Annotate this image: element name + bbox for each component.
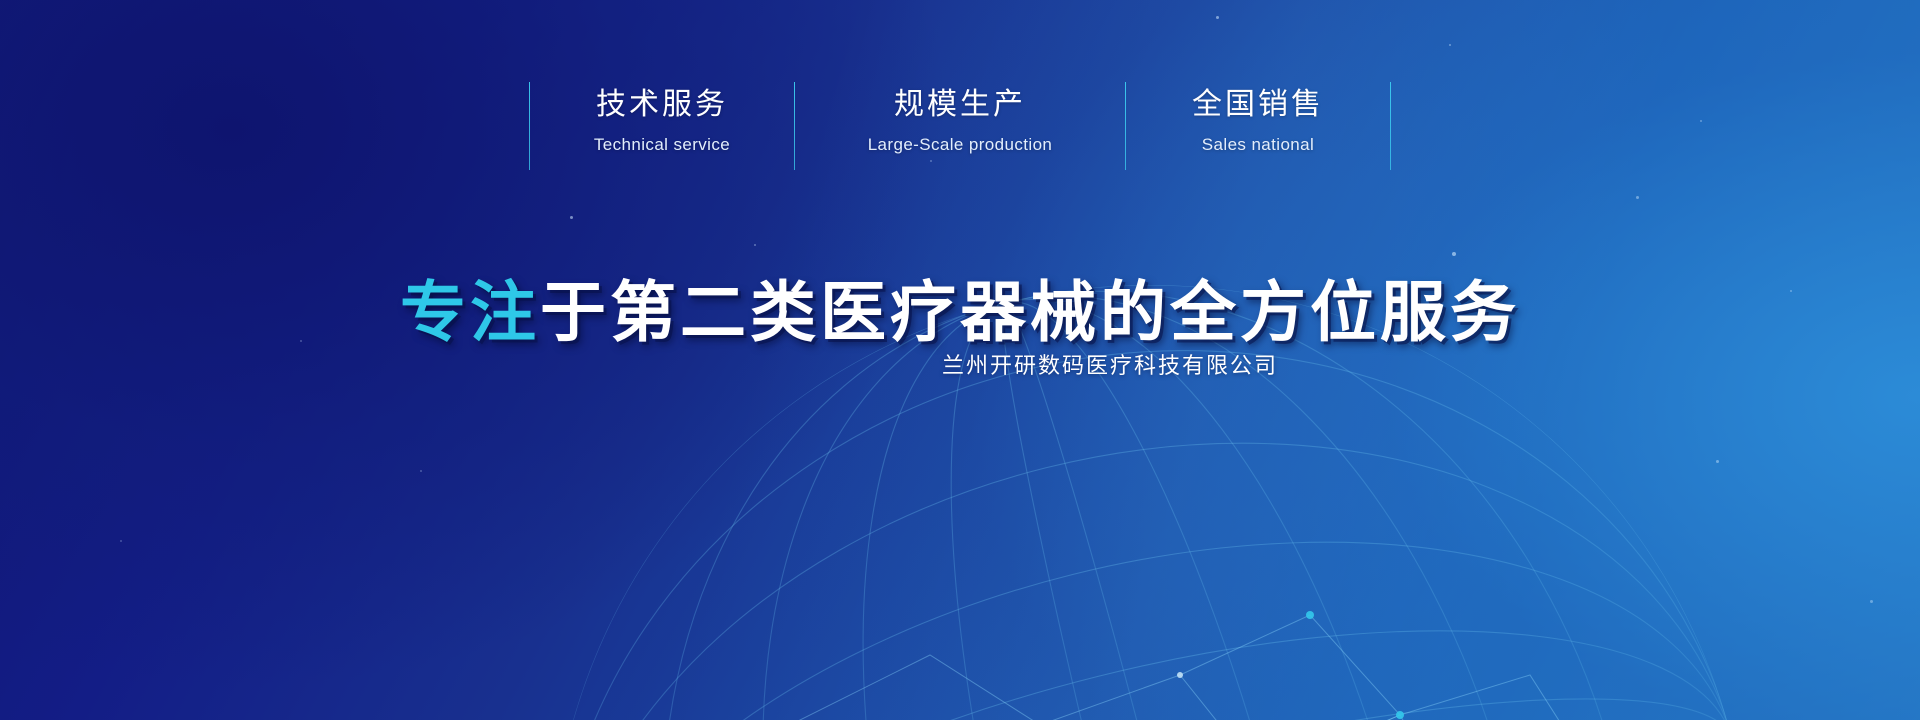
feature-item-technical-service[interactable]: 技术服务 Technical service xyxy=(530,72,794,172)
feature-item-sales-national[interactable]: 全国销售 Sales national xyxy=(1126,72,1390,172)
feature-title-cn: 技术服务 xyxy=(540,90,784,120)
feature-title-cn: 规模生产 xyxy=(805,90,1115,120)
feature-title-en: Sales national xyxy=(1136,136,1380,153)
page-title: 专注于第二类医疗器械的全方位服务 xyxy=(0,278,1920,347)
headline-accent-text: 专注 xyxy=(400,274,540,351)
feature-divider-right xyxy=(1390,82,1391,170)
hero-banner: 技术服务 Technical service 规模生产 Large-Scale … xyxy=(0,0,1920,720)
company-name-text: 兰州开研数码医疗科技有限公司 xyxy=(942,355,1278,377)
company-name: 兰州开研数码医疗科技有限公司 xyxy=(0,355,1920,378)
headline-rest-text: 于第二类医疗器械的全方位服务 xyxy=(540,274,1520,351)
feature-title-en: Technical service xyxy=(540,136,784,153)
feature-strip: 技术服务 Technical service 规模生产 Large-Scale … xyxy=(0,72,1920,172)
feature-item-large-scale-production[interactable]: 规模生产 Large-Scale production xyxy=(795,72,1125,172)
feature-title-cn: 全国销售 xyxy=(1136,90,1380,120)
feature-title-en: Large-Scale production xyxy=(805,136,1115,153)
